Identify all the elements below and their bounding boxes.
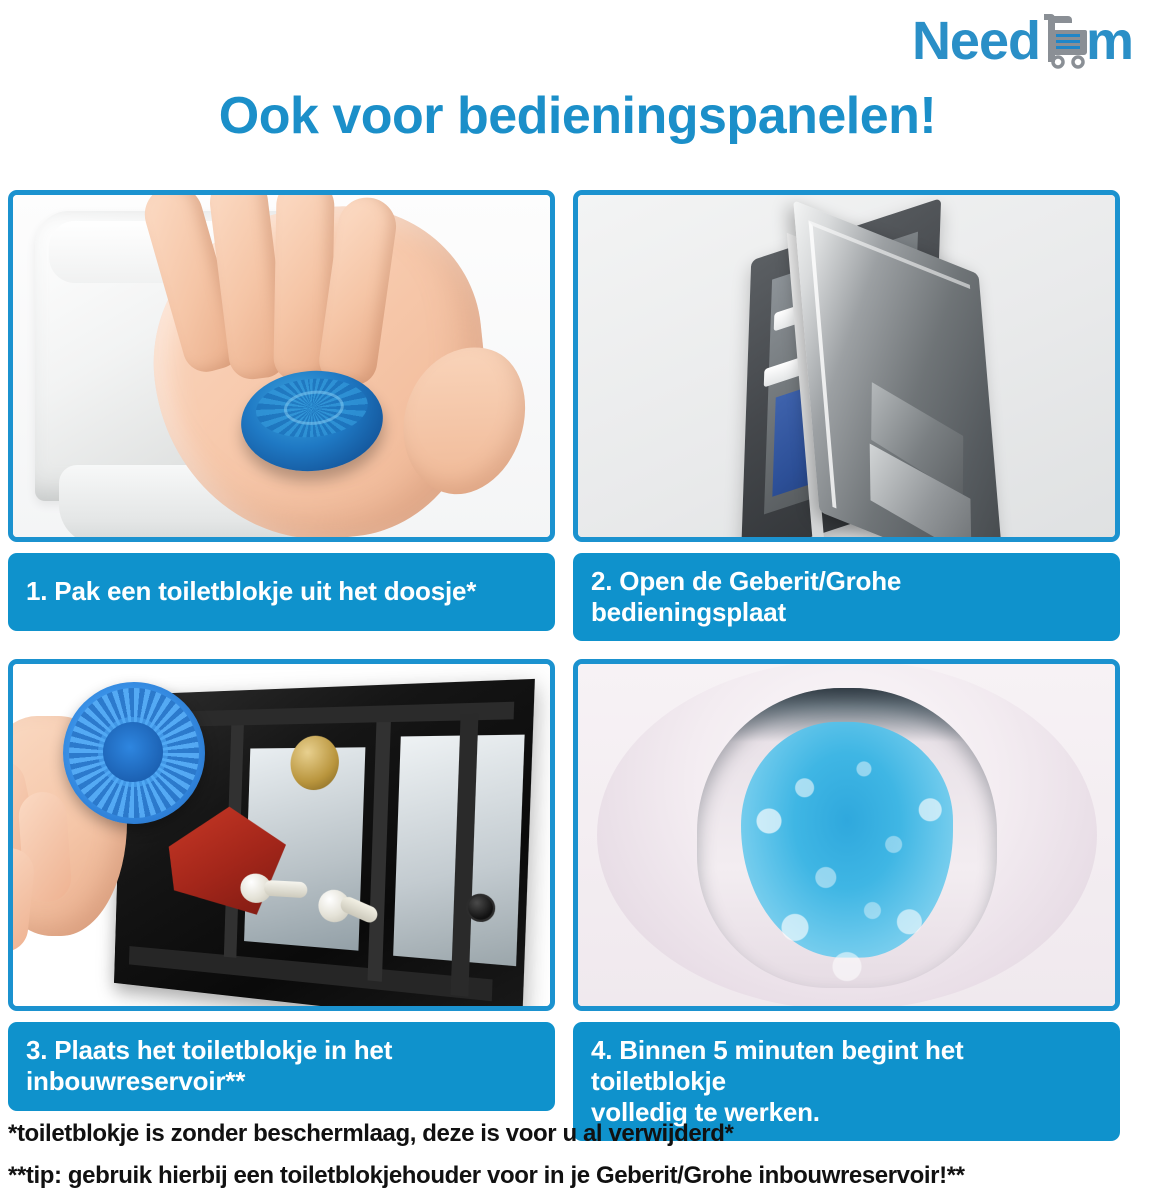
photo-block-into-cistern (13, 664, 550, 1006)
step-2-caption-line2: bedieningsplaat (591, 597, 901, 628)
step-2-photo-frame (573, 190, 1120, 542)
step-2-caption: 2. Open de Geberit/Grohe bedieningsplaat (573, 553, 1120, 641)
photo-hand-with-block (13, 195, 550, 537)
photo-flush-plate-open (578, 195, 1115, 537)
logo-wordmark: Need m (912, 10, 1133, 68)
footnote-1: *toiletblokje is zonder beschermlaag, de… (8, 1120, 1148, 1148)
infographic-page: Need m Ook voor bedieningspanelen! (0, 0, 1155, 1200)
brand-logo: Need m (912, 6, 1133, 72)
step-3-caption-line1: 3. Plaats het toiletblokje in het (26, 1035, 392, 1066)
step-1-caption: 1. Pak een toiletblokje uit het doosje* (8, 553, 555, 631)
step-3-caption: 3. Plaats het toiletblokje in het inbouw… (8, 1022, 555, 1110)
page-title: Ook voor bedieningspanelen! (0, 86, 1155, 146)
step-4-photo-frame (573, 659, 1120, 1011)
step-card-2: 2. Open de Geberit/Grohe bedieningsplaat (573, 190, 1120, 641)
logo-text-before: Need (912, 14, 1040, 68)
footnote-2: **tip: gebruik hierbij een toiletblokjeh… (8, 1162, 1148, 1190)
blue-toilet-block (63, 682, 205, 824)
step-card-4: 4. Binnen 5 minuten begint het toiletblo… (573, 659, 1120, 1141)
step-2-caption-line1: 2. Open de Geberit/Grohe (591, 566, 901, 597)
step-1-caption-line1: 1. Pak een toiletblokje uit het doosje* (26, 576, 476, 607)
footnotes: *toiletblokje is zonder beschermlaag, de… (8, 1120, 1148, 1200)
step-3-caption-line2: inbouwreservoir** (26, 1066, 392, 1097)
step-4-caption-line1: 4. Binnen 5 minuten begint het toiletblo… (591, 1035, 1104, 1096)
step-3-photo-frame (8, 659, 555, 1011)
water-foam (717, 709, 977, 989)
logo-text-after: m (1086, 14, 1133, 68)
step-card-3: 3. Plaats het toiletblokje in het inbouw… (8, 659, 555, 1141)
shopping-cart-icon (1036, 10, 1088, 70)
photo-blue-water-in-bowl (578, 664, 1115, 1006)
steps-grid: 1. Pak een toiletblokje uit het doosje* (8, 190, 1148, 1141)
step-1-photo-frame (8, 190, 555, 542)
step-card-1: 1. Pak een toiletblokje uit het doosje* (8, 190, 555, 641)
